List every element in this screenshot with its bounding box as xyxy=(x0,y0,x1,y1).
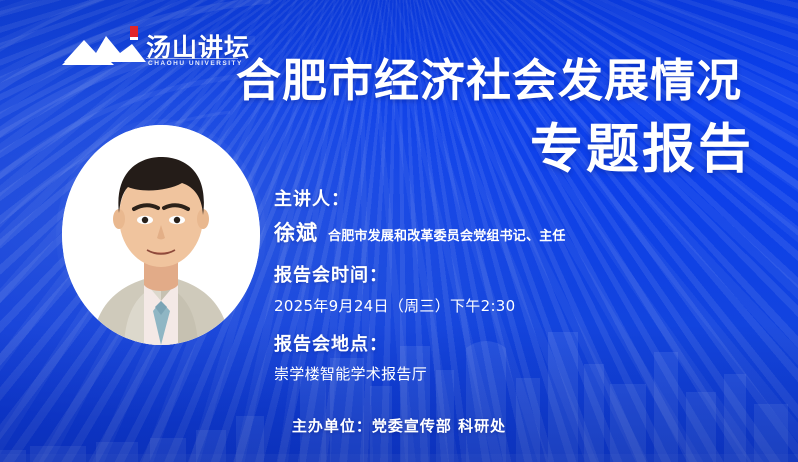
brand-logo: 汤山讲坛 CHAOHU UNIVERSITY xyxy=(62,24,237,74)
speaker-name: 徐斌 xyxy=(274,217,318,247)
page-title: 合肥市经济社会发展情况 专题报告 xyxy=(236,58,772,176)
venue-value: 崇学楼智能学术报告厅 xyxy=(274,363,674,384)
time-value: 2025年9月24日（周三）下午2:30 xyxy=(274,295,674,316)
time-label: 报告会时间： xyxy=(274,264,674,288)
speaker-label: 主讲人： xyxy=(274,188,674,212)
headline-line-2: 专题报告 xyxy=(236,123,772,176)
speaker-portrait-wrap xyxy=(62,125,260,345)
event-details: 主讲人： 徐斌 合肥市发展和改革委员会党组书记、主任 报告会时间： 2025年9… xyxy=(274,188,674,384)
organizer-line: 主办单位：党委宣传部 科研处 xyxy=(0,415,798,436)
speaker-title: 合肥市发展和改革委员会党组书记、主任 xyxy=(328,225,566,244)
logo-name-en: CHAOHU UNIVERSITY xyxy=(148,60,243,67)
speaker-portrait xyxy=(62,125,260,345)
logo-divider xyxy=(146,58,238,59)
lecture-poster: 汤山讲坛 CHAOHU UNIVERSITY xyxy=(0,0,798,462)
venue-label: 报告会地点： xyxy=(274,333,674,357)
speaker-row: 徐斌 合肥市发展和改革委员会党组书记、主任 xyxy=(274,217,674,247)
mountain-logo-icon xyxy=(62,26,148,72)
headline-line-1: 合肥市经济社会发展情况 xyxy=(236,58,772,103)
